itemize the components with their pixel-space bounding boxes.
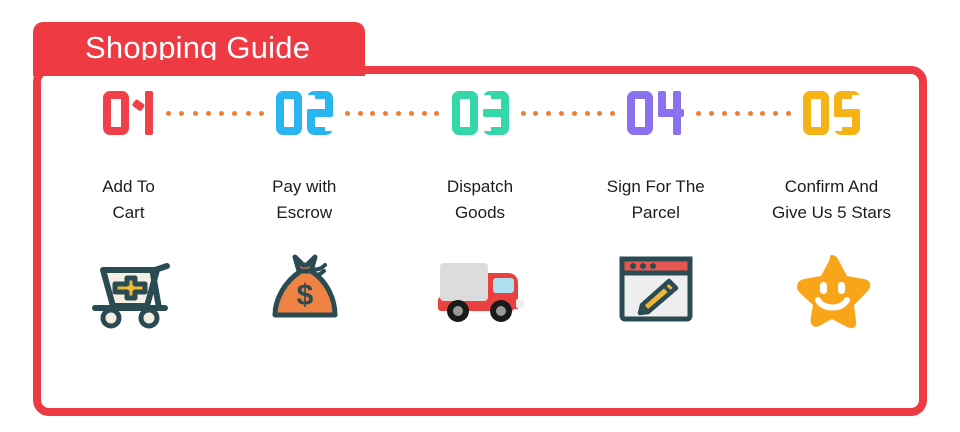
- connector-dot: [179, 111, 184, 116]
- connector-dot: [259, 111, 264, 116]
- digit-two: [307, 91, 333, 135]
- step-5-caption-line2: Give Us 5 Stars: [744, 200, 919, 226]
- connector-dot: [396, 111, 401, 116]
- step-2-number-row: [276, 74, 333, 152]
- connector-dot: [722, 111, 727, 116]
- step-5-caption-line1: Confirm And: [785, 177, 879, 196]
- connector-3-4: [521, 110, 616, 116]
- step-1-number-row: [103, 74, 154, 152]
- connector-dot: [760, 111, 765, 116]
- digit-one: [134, 91, 154, 135]
- step-3-caption: Dispatch Goods: [393, 174, 568, 226]
- steps-row: Add To Cart Pay with Escrow: [41, 74, 919, 408]
- connector-2-3: [345, 110, 440, 116]
- connector-dot: [422, 111, 427, 116]
- connector-dot: [610, 111, 615, 116]
- step-4-number-row: [627, 74, 684, 152]
- step-2-caption-line2: Escrow: [217, 200, 392, 226]
- connector-dot: [546, 111, 551, 116]
- step-3-number: [452, 91, 509, 135]
- delivery-truck-icon: [430, 244, 530, 334]
- digit-five: [834, 91, 860, 135]
- connector-dot: [409, 111, 414, 116]
- connector-dot: [232, 111, 237, 116]
- shopping-cart-icon: [79, 244, 179, 334]
- connector-dot: [166, 111, 171, 116]
- connector-dot: [585, 111, 590, 116]
- step-1-caption-line2: Cart: [41, 200, 216, 226]
- step-4-caption: Sign For The Parcel: [568, 174, 743, 226]
- connector-dot: [735, 111, 740, 116]
- connector-4-5: [696, 110, 791, 116]
- step-4-caption-line2: Parcel: [568, 200, 743, 226]
- step-3-caption-line2: Goods: [393, 200, 568, 226]
- connector-dot: [206, 111, 211, 116]
- connector-dot: [773, 111, 778, 116]
- connector-dot: [533, 111, 538, 116]
- step-5-caption: Confirm And Give Us 5 Stars: [744, 174, 919, 226]
- connector-dot: [786, 111, 791, 116]
- step-1-number: [103, 91, 154, 135]
- connector-dot: [572, 111, 577, 116]
- step-4-number: [627, 91, 684, 135]
- step-4-caption-line1: Sign For The: [607, 177, 705, 196]
- digit-four: [658, 91, 684, 135]
- money-bag-icon: $: [254, 244, 354, 334]
- connector-dot: [696, 111, 701, 116]
- connector-dot: [358, 111, 363, 116]
- connector-dot: [434, 111, 439, 116]
- step-2-caption: Pay with Escrow: [217, 174, 392, 226]
- digit-zero: [627, 91, 653, 135]
- connector-1-2: [166, 110, 264, 116]
- connector-dot: [559, 111, 564, 116]
- connector-dot: [219, 111, 224, 116]
- connector-dot: [597, 111, 602, 116]
- connector-dot: [193, 111, 198, 116]
- step-3-caption-line1: Dispatch: [447, 177, 513, 196]
- step-5-number: [803, 91, 860, 135]
- step-2-number: [276, 91, 333, 135]
- connector-dot: [383, 111, 388, 116]
- step-3-number-row: [452, 74, 509, 152]
- connector-dot: [370, 111, 375, 116]
- connector-dot: [748, 111, 753, 116]
- digit-zero: [276, 91, 302, 135]
- step-1-caption: Add To Cart: [41, 174, 216, 226]
- connector-dot: [521, 111, 526, 116]
- step-2-caption-line1: Pay with: [272, 177, 336, 196]
- digit-zero: [803, 91, 829, 135]
- connector-dot: [246, 111, 251, 116]
- connector-dot: [709, 111, 714, 116]
- step-5-number-row: [803, 74, 860, 152]
- digit-zero: [103, 91, 129, 135]
- connector-dot: [345, 111, 350, 116]
- sign-document-icon: [606, 244, 706, 334]
- digit-zero: [452, 91, 478, 135]
- digit-three: [483, 91, 509, 135]
- svg-text:$: $: [297, 279, 314, 312]
- step-1-caption-line1: Add To: [102, 177, 155, 196]
- smiling-star-icon: [782, 244, 882, 334]
